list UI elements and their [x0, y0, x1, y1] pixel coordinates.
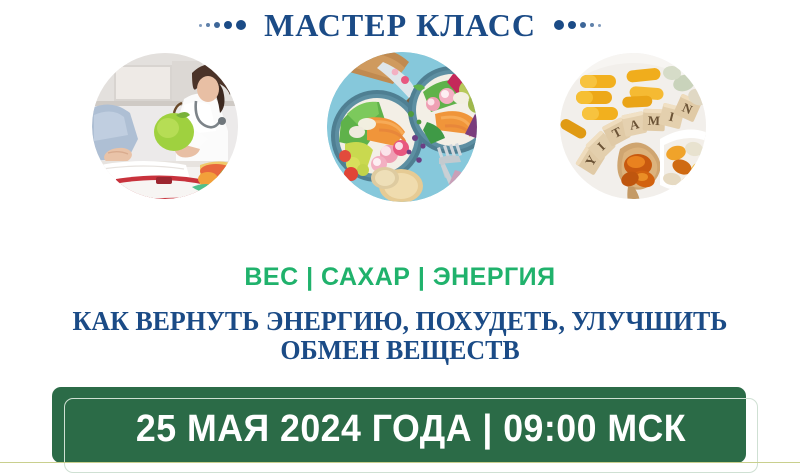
headline-line-1: КАК ВЕРНУТЬ ЭНЕРГИЮ, ПОХУДЕТЬ, УЛУЧШИТЬ — [73, 306, 728, 336]
page-title: МАСТЕР КЛАСС — [264, 9, 536, 41]
subtitle-weight-sugar-energy: ВЕС | САХАР | ЭНЕРГИЯ — [0, 263, 800, 292]
decorative-dots-right-icon — [554, 20, 601, 30]
dot — [598, 24, 601, 27]
healthy-salad-bowls-photo — [327, 52, 477, 202]
headline-line-2: ОБМЕН ВЕЩЕСТВ — [16, 336, 784, 365]
dot — [590, 23, 594, 27]
poster-title-row: МАСТЕР КЛАСС — [0, 4, 800, 46]
dot — [206, 23, 210, 27]
dot — [580, 22, 586, 28]
banner-date-time-text: 25 МАЯ 2024 ГОДА | 09:00 МСК — [85, 398, 737, 460]
dot — [199, 24, 202, 27]
date-time-banner: 25 МАЯ 2024 ГОДА | 09:00 МСК — [0, 380, 800, 466]
decorative-dots-left-icon — [199, 20, 246, 30]
bottom-divider — [0, 462, 800, 463]
nutritionist-consultation-photo — [92, 53, 238, 199]
headline: КАК ВЕРНУТЬ ЭНЕРГИЮ, ПОХУДЕТЬ, УЛУЧШИТЬ … — [16, 307, 784, 365]
dot — [236, 20, 246, 30]
dot — [214, 22, 220, 28]
dot — [568, 21, 576, 29]
dot — [554, 20, 564, 30]
photo-strip: Y I T A — [0, 52, 800, 202]
dot — [224, 21, 232, 29]
vitamin-supplements-photo: Y I T A — [560, 53, 706, 199]
svg-text:M: M — [648, 113, 661, 128]
